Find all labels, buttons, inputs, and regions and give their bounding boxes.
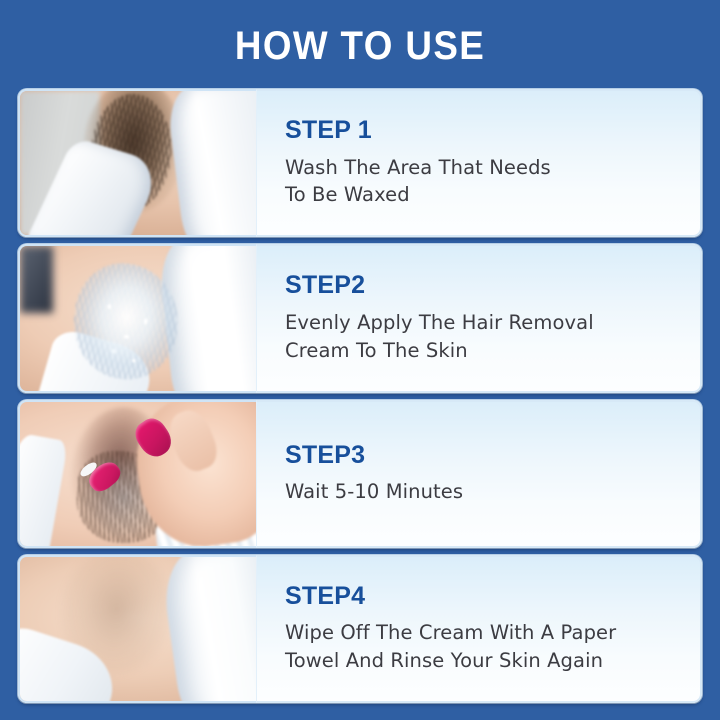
how-to-use-poster: HOW TO USE STEP 1 xyxy=(0,0,720,720)
step-body-4: Wipe Off The Cream With A Paper Towel An… xyxy=(285,619,700,674)
step-body-line: Evenly Apply The Hair Removal xyxy=(285,309,680,337)
step-text-2: STEP2 Evenly Apply The Hair Removal Crea… xyxy=(256,244,702,392)
smooth-clean-underarm-photo xyxy=(18,555,256,703)
step-card-3: STEP3 Wait 5-10 Minutes xyxy=(18,400,702,548)
step-heading-4: STEP4 xyxy=(285,583,700,611)
step-body-line: To Be Waxed xyxy=(285,181,680,209)
step-card-1: STEP 1 Wash The Area That Needs To Be Wa… xyxy=(18,89,702,237)
step-card-4: STEP4 Wipe Off The Cream With A Paper To… xyxy=(18,555,702,703)
hand-with-pink-nails-photo xyxy=(18,400,256,548)
step-text-4: STEP4 Wipe Off The Cream With A Paper To… xyxy=(256,555,702,703)
step-body-line: Cream To The Skin xyxy=(285,337,680,365)
step-body-line: Wipe Off The Cream With A Paper xyxy=(285,619,680,647)
step-body-3: Wait 5-10 Minutes xyxy=(285,478,700,506)
step-heading-3: STEP3 xyxy=(285,442,700,470)
step-body-line: Wait 5-10 Minutes xyxy=(285,478,680,506)
step-body-1: Wash The Area That Needs To Be Waxed xyxy=(285,154,700,209)
step-body-2: Evenly Apply The Hair Removal Cream To T… xyxy=(285,309,700,364)
step-heading-1: STEP 1 xyxy=(285,117,700,145)
step-body-line: Towel And Rinse Your Skin Again xyxy=(285,647,680,675)
underarm-with-cream-photo xyxy=(18,244,256,392)
underarm-with-hair-photo xyxy=(18,89,256,237)
step-card-2: STEP2 Evenly Apply The Hair Removal Crea… xyxy=(18,244,702,392)
steps-list: STEP 1 Wash The Area That Needs To Be Wa… xyxy=(18,89,702,703)
step-text-3: STEP3 Wait 5-10 Minutes xyxy=(256,400,702,548)
page-title: HOW TO USE xyxy=(235,26,485,66)
step-text-1: STEP 1 Wash The Area That Needs To Be Wa… xyxy=(256,89,702,237)
step-heading-2: STEP2 xyxy=(285,272,700,300)
step-body-line: Wash The Area That Needs xyxy=(285,154,680,182)
poster-header: HOW TO USE xyxy=(0,0,720,89)
